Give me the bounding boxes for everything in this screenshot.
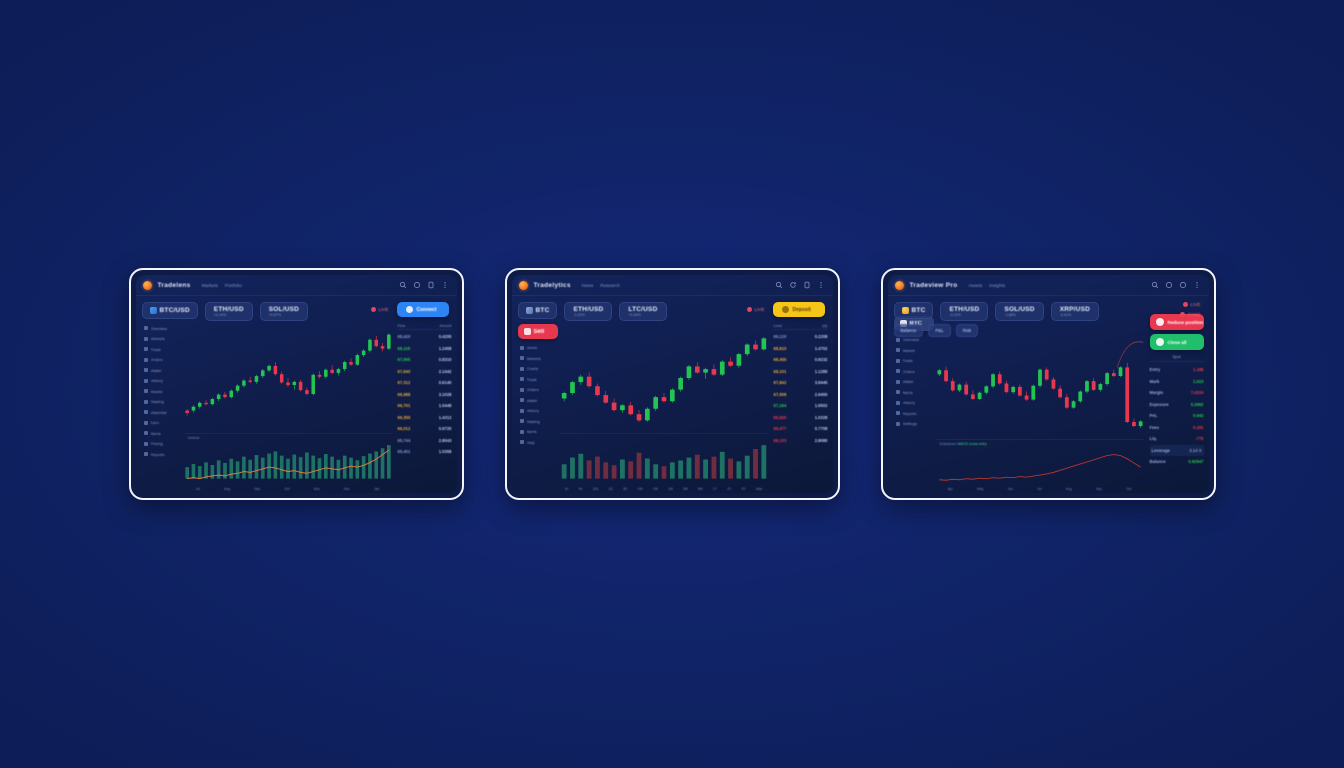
x-tick: 4h — [579, 487, 583, 491]
tab-active-pair[interactable]: BTC/USD — [142, 302, 198, 319]
sidebar-item[interactable]: History — [518, 407, 558, 415]
table-row[interactable]: Entry1.188 — [1150, 364, 1204, 376]
row-label: Exposure — [1150, 402, 1169, 407]
search-icon[interactable] — [1151, 281, 1159, 289]
volume-plot — [184, 434, 392, 490]
row-label: 68,118 — [398, 346, 411, 351]
table-row[interactable]: 66,1332.8080 — [774, 435, 828, 447]
row-value: 0.7708 — [815, 426, 828, 431]
sidebar-item[interactable]: Home — [518, 344, 558, 352]
table-row[interactable]: 68,4550.9232 — [774, 354, 828, 366]
row-label: 67,164 — [774, 403, 787, 408]
sidebar-item[interactable]: Alerts — [518, 428, 558, 436]
sidebar-item[interactable]: Alerts — [142, 429, 182, 437]
sync-label: SYNC — [1188, 312, 1201, 317]
table-row[interactable]: 66,7011.0448 — [398, 400, 452, 412]
table-row[interactable]: Fees0.181 — [1150, 422, 1204, 434]
table-row[interactable]: PnL0.942 — [1150, 410, 1204, 422]
sidebar-item-label: Alerts — [903, 390, 913, 395]
tab-pair[interactable]: SOL/USD +0.87% — [260, 302, 308, 321]
sidebar-item[interactable]: Overview — [142, 324, 182, 332]
sidebar-item[interactable]: Charts — [518, 365, 558, 373]
x-tick: May — [977, 487, 983, 491]
nav-icon — [144, 431, 148, 435]
sidebar-item-label: Trade — [151, 347, 161, 352]
sidebar-item[interactable]: Staking — [142, 398, 182, 406]
row-value: 3.1028 — [439, 392, 452, 397]
sidebar-item-label: Orders — [903, 369, 915, 374]
tab-label: BTC/USD — [160, 307, 190, 314]
sidebar-item[interactable]: Trade — [518, 375, 558, 383]
table-row[interactable]: 67,9050.8310 — [398, 354, 452, 366]
row-value: 2.9450 — [815, 392, 828, 397]
sidebar-item[interactable]: Pricing — [142, 440, 182, 448]
nav-icon — [520, 388, 524, 392]
deposit-icon — [782, 306, 789, 313]
indicator-plot — [936, 440, 1144, 490]
sidebar-item-label: Home — [527, 345, 538, 350]
order-book-rows: 69,1200.220868,8101.470268,4550.923268,1… — [774, 331, 828, 446]
column-header-price: Price — [398, 324, 406, 328]
row-label: 66,988 — [398, 392, 411, 397]
order-book: Price Amount 68,4200.420568,1181.245867,… — [395, 321, 457, 493]
sidebar-item[interactable]: Markets — [518, 354, 558, 362]
row-label: 67,842 — [774, 380, 787, 385]
nav-icon — [144, 337, 148, 341]
row-label: 67,508 — [774, 392, 787, 397]
dashboard-card-bearish: Tradeview Pro Assets Insights BTC — [881, 268, 1216, 500]
row-label: 66,820 — [774, 415, 787, 420]
tab-active-pair[interactable]: BTC — [894, 302, 934, 319]
sidebar-item-label: Assets — [151, 389, 163, 394]
volume-label: Volume — [188, 436, 200, 440]
sidebar-item-label: History — [151, 378, 163, 383]
row-value: 3.9445 — [815, 380, 828, 385]
connect-button[interactable]: Connect — [397, 302, 449, 317]
tab-label: ETH/USD — [949, 306, 979, 313]
status-dot-icon — [1183, 302, 1188, 307]
nav-icon — [144, 326, 148, 330]
nav-icon — [144, 358, 148, 362]
nav-icon — [144, 421, 148, 425]
more-menu-icon[interactable] — [817, 281, 825, 289]
sidebar-item-label: Settings — [903, 421, 917, 426]
nav-icon — [896, 401, 900, 405]
sidebar-item-label: Reports — [903, 411, 917, 416]
nav-icon — [896, 369, 900, 373]
order-book-rows: 68,4200.420568,1181.245867,9050.831067,6… — [398, 331, 452, 458]
panel-body: BTC Overview Market Trade Orders Wallet … — [888, 337, 1209, 493]
deposit-button[interactable]: Deposit — [773, 302, 825, 317]
x-tick: 2Y — [727, 487, 731, 491]
x-tick: Oct — [1126, 487, 1131, 491]
tab-label: BTC — [536, 307, 550, 314]
price-chart[interactable] — [560, 323, 768, 431]
tab-sublabel: -1.88% — [1004, 313, 1015, 317]
sidebar-item[interactable]: Assets — [142, 387, 182, 395]
sidebar-item[interactable]: Settings — [894, 420, 934, 428]
status-label: LIVE — [379, 307, 389, 312]
x-tick: 1W — [638, 487, 643, 491]
x-tick: Jun — [1008, 487, 1013, 491]
x-tick: Jul — [1037, 487, 1041, 491]
row-label: Margin — [1150, 390, 1164, 395]
candlestick-plot — [936, 339, 1144, 437]
sidebar-item-label: Overview — [903, 337, 920, 342]
table-row[interactable]: 66,3551.4312 — [398, 412, 452, 424]
sidebar: BTC Overview Market Trade Orders Wallet … — [888, 313, 934, 493]
sidebar-item[interactable]: Wallet — [894, 378, 934, 386]
wallet-icon[interactable] — [803, 281, 811, 289]
brand-logo-icon — [519, 281, 528, 290]
sidebar-item[interactable]: Reports — [894, 409, 934, 417]
header-icon-group — [1151, 281, 1201, 289]
header-nav-link[interactable]: Research — [600, 283, 620, 288]
row-label: 66,133 — [774, 438, 787, 443]
x-tick: Nov — [314, 487, 320, 491]
panel-stage: Tradelens Markets Portfolio BTC/USD — [0, 0, 1344, 768]
search-icon[interactable] — [399, 281, 407, 289]
status-label: LIVE — [755, 307, 765, 312]
x-tick: 2W — [653, 487, 658, 491]
table-row[interactable]: Margin7.4324 — [1150, 387, 1204, 399]
row-value: 1.023 — [1193, 379, 1203, 384]
sidebar: Overview Markets Trade Orders Wallet His… — [136, 321, 182, 493]
table-row[interactable]: Exposure0.2962 — [1150, 399, 1204, 411]
wallet-icon[interactable] — [427, 281, 435, 289]
toolbar-right: LIVE SYNC — [1180, 302, 1201, 317]
row-value: 1.2458 — [439, 346, 452, 351]
nav-icon — [144, 410, 148, 414]
column-header-level: Level — [774, 324, 782, 328]
x-tick: 3M — [683, 487, 688, 491]
header-nav-link[interactable]: News — [582, 283, 594, 288]
row-value: 2.8043 — [439, 438, 452, 443]
row-value: 0.2962 — [1191, 402, 1204, 407]
volume-plot — [560, 434, 768, 490]
sidebar-item[interactable]: History — [894, 399, 934, 407]
table-row[interactable]: Leverage3.14 X — [1150, 445, 1204, 457]
tab-pair[interactable]: XRP/USD -0.91% — [1051, 302, 1099, 321]
sidebar-item-label: History — [903, 400, 915, 405]
tab-pair[interactable]: ETH/USD +2.14% — [205, 302, 253, 321]
more-menu-icon[interactable] — [1193, 281, 1201, 289]
panel-body: Overview Markets Trade Orders Wallet His… — [136, 321, 457, 493]
nav-icon — [520, 409, 524, 413]
table-row[interactable]: 67,3120.6140 — [398, 377, 452, 389]
pair-icon — [150, 307, 157, 314]
deposit-label: Deposit — [793, 307, 811, 313]
table-row[interactable]: 67,1641.6502 — [774, 400, 828, 412]
nav-icon — [896, 348, 900, 352]
nav-icon — [520, 346, 524, 350]
sell-icon — [524, 328, 531, 335]
nav-icon — [520, 398, 524, 402]
x-tick: Sep — [254, 487, 260, 491]
price-chart[interactable] — [184, 323, 392, 431]
sidebar-item-label: Wallet — [151, 368, 162, 373]
app-header: Tradelens Markets Portfolio — [136, 275, 457, 296]
nav-icon — [144, 442, 148, 446]
row-value: 1.6502 — [815, 403, 828, 408]
row-label: 65,401 — [398, 449, 411, 454]
header-nav-link[interactable]: Assets — [968, 283, 982, 288]
toolbar-right: LIVE Deposit — [747, 302, 825, 317]
tab-label: SOL/USD — [269, 306, 299, 313]
sidebar-item[interactable]: Orders — [518, 386, 558, 394]
sidebar-item[interactable]: Earn — [142, 419, 182, 427]
row-label: Fees — [1150, 425, 1160, 430]
x-axis: 1h 4h 12h 1D 3D 1W 2W 1M 3M 6M 1Y 2Y — [560, 487, 768, 491]
tab-sublabel: -1.02% — [573, 313, 584, 317]
tab-label: ETH/USD — [573, 306, 603, 313]
sidebar-item-label: History — [527, 408, 539, 413]
x-tick: Jul — [196, 487, 200, 491]
row-value: 1.0358 — [439, 449, 452, 454]
price-chart[interactable] — [936, 339, 1144, 437]
x-tick: Aug — [1066, 487, 1072, 491]
header-nav: Assets Insights — [968, 283, 1005, 288]
nav-icon — [896, 338, 900, 342]
row-value: .770 — [1195, 436, 1203, 441]
x-tick: Aug — [224, 487, 230, 491]
wallet-icon[interactable] — [1179, 281, 1187, 289]
x-axis: Apr May Jun Jul Aug Sep Oct — [936, 487, 1144, 491]
sidebar-item[interactable]: Market — [894, 346, 934, 354]
header-nav: News Research — [582, 283, 620, 288]
status-dot-icon — [371, 307, 376, 312]
row-value: 1.1285 — [815, 369, 828, 374]
volume-chart[interactable]: Volume Jul Aug Sep Oct Nov Dec Jan — [184, 433, 392, 490]
x-axis: Jul Aug Sep Oct Nov Dec Jan — [184, 487, 392, 491]
tab-sublabel: -0.91% — [1060, 313, 1071, 317]
refresh-icon[interactable] — [789, 281, 797, 289]
nav-icon — [144, 347, 148, 351]
status-label: LIVE — [1191, 302, 1201, 307]
nav-icon — [144, 400, 148, 404]
app-header: Tradeview Pro Assets Insights — [888, 275, 1209, 296]
tab-label: SOL/USD — [1004, 306, 1034, 313]
row-label: 69,120 — [774, 334, 787, 339]
nav-icon — [144, 389, 148, 393]
sidebar-item[interactable]: Orders — [142, 356, 182, 364]
sidebar-item[interactable]: Alerts — [894, 388, 934, 396]
sidebar-item[interactable]: Trade — [142, 345, 182, 353]
nav-icon — [520, 440, 524, 444]
x-tick: 5Y — [742, 487, 746, 491]
row-value: 1.4312 — [439, 415, 452, 420]
chart-area: Drawdown MACD cross entry Apr May Jun Ju… — [934, 337, 1147, 493]
tab-pair[interactable]: SOL/USD -1.88% — [995, 302, 1043, 321]
table-row[interactable]: 65,7442.8043 — [398, 435, 452, 447]
sidebar-item[interactable]: Markets — [142, 335, 182, 343]
sidebar-item-label: Markets — [527, 356, 541, 361]
toolbar-right: LIVE Connect — [371, 302, 449, 317]
row-value: 3.14 X — [1189, 448, 1201, 453]
x-tick: Apr — [948, 487, 953, 491]
filter-chip-balance[interactable]: Balance — [894, 324, 924, 337]
tab-pair[interactable]: ETH/USD -3.12% — [940, 302, 988, 321]
tab-active-pair[interactable]: BTC — [518, 302, 558, 319]
status-badge: LIVE — [747, 307, 765, 312]
tab-label: LTC/USD — [628, 306, 657, 313]
column-header-qty: Qty — [822, 324, 827, 328]
row-label: PnL — [1150, 413, 1158, 418]
header-nav-link[interactable]: Portfolio — [225, 283, 242, 288]
row-label: 68,810 — [774, 346, 787, 351]
table-row[interactable]: 68,1011.1285 — [774, 366, 828, 378]
sidebar-item-label: Alerts — [527, 429, 537, 434]
app-header: Tradelytics News Research — [512, 275, 833, 296]
notification-icon[interactable] — [1165, 281, 1173, 289]
row-value: 1.188 — [1193, 367, 1203, 372]
sidebar-item[interactable]: Wallet — [518, 396, 558, 404]
nav-icon — [520, 430, 524, 434]
toolbar: BTC ETH/USD -3.12% SOL/USD -1.88% XRP/US… — [888, 296, 1209, 321]
table-row[interactable]: 67,8423.9445 — [774, 377, 828, 389]
nav-icon — [896, 422, 900, 426]
tab-label: XRP/USD — [1060, 306, 1090, 313]
x-tick: Oct — [284, 487, 289, 491]
x-tick: Max — [756, 487, 762, 491]
row-label: Mark — [1150, 379, 1160, 384]
row-value: 0.2208 — [815, 334, 828, 339]
sidebar-item-label: Overview — [151, 326, 168, 331]
header-icon-group — [399, 281, 449, 289]
row-label: Balance — [1150, 459, 1166, 464]
nav-icon — [520, 419, 524, 423]
sidebar-item-label: Wallet — [527, 398, 538, 403]
sidebar-item-label: Pricing — [151, 441, 163, 446]
header-nav: Markets Portfolio — [202, 283, 242, 288]
volume-chart[interactable]: 1h 4h 12h 1D 3D 1W 2W 1M 3M 6M 1Y 2Y — [560, 433, 768, 490]
brand-logo-icon — [143, 281, 152, 290]
order-book: Level Qty 69,1200.220868,8101.470268,455… — [771, 321, 833, 493]
x-tick: Dec — [344, 487, 350, 491]
brand-title: Tradelytics — [534, 282, 571, 289]
row-value: 0.6140 — [439, 380, 452, 385]
nav-icon — [896, 359, 900, 363]
position-panel: Reduce position Close all Spot Entry1.18… — [1147, 311, 1209, 493]
table-row[interactable]: 67,5082.9450 — [774, 389, 828, 401]
table-row[interactable]: Mark1.023 — [1150, 376, 1204, 388]
position-panel-title: Spot — [1150, 354, 1204, 362]
x-tick: 1Y — [713, 487, 717, 491]
sidebar-item[interactable]: Orders — [894, 367, 934, 375]
table-row[interactable]: 66,9883.1028 — [398, 389, 452, 401]
row-label: 66,355 — [398, 415, 411, 420]
x-tick: Jan — [374, 487, 379, 491]
sidebar-item[interactable]: Reports — [142, 450, 182, 458]
brand-title: Tradeview Pro — [910, 282, 958, 289]
table-row[interactable]: Balance0.92947 — [1150, 456, 1204, 468]
sidebar-item[interactable]: Staking — [518, 417, 558, 425]
row-value: 7.4324 — [1191, 390, 1204, 395]
sidebar-item-label: Trade — [903, 358, 913, 363]
table-row[interactable]: 68,1181.2458 — [398, 343, 452, 355]
sidebar-item-label: Alerts — [151, 431, 161, 436]
sidebar-item-label: Help — [527, 440, 535, 445]
filter-chip-pnl[interactable]: P&L — [928, 324, 950, 337]
table-row[interactable]: 65,4011.0358 — [398, 446, 452, 458]
table-row[interactable]: 67,6402.1442 — [398, 366, 452, 378]
x-tick: 6M — [698, 487, 703, 491]
table-row[interactable]: 69,1200.2208 — [774, 331, 828, 343]
sidebar-item-label: Orders — [151, 357, 163, 362]
row-label: 67,312 — [398, 380, 411, 385]
sidebar-item[interactable]: Wallet — [142, 366, 182, 374]
order-book-header: Price Amount — [398, 324, 452, 330]
sidebar-item[interactable]: Trade — [894, 357, 934, 365]
tab-sublabel: +0.44% — [628, 313, 640, 317]
x-tick: 12h — [593, 487, 599, 491]
sidebar-item[interactable]: Help — [518, 438, 558, 446]
connect-icon — [406, 306, 413, 313]
column-header-amount: Amount — [439, 324, 451, 328]
chart-area: Volume Jul Aug Sep Oct Nov Dec Jan — [182, 321, 395, 493]
sell-label: Sell — [534, 329, 545, 335]
row-label: 68,101 — [774, 369, 787, 374]
header-icon-group — [775, 281, 825, 289]
toolbar: BTC ETH/USD -1.02% LTC/USD +0.44% LIVE — [512, 296, 833, 321]
sidebar-item-label: Reports — [151, 452, 165, 457]
tab-sublabel: -3.12% — [949, 313, 960, 317]
notification-icon[interactable] — [413, 281, 421, 289]
sidebar-item-label: Earn — [151, 420, 159, 425]
more-menu-icon[interactable] — [441, 281, 449, 289]
table-row[interactable]: 66,8201.0328 — [774, 412, 828, 424]
row-label: 67,640 — [398, 369, 411, 374]
nav-icon — [896, 380, 900, 384]
search-icon[interactable] — [775, 281, 783, 289]
row-label: 66,477 — [774, 426, 787, 431]
x-tick: 1D — [608, 487, 612, 491]
sidebar-item-label: Markets — [151, 336, 165, 341]
header-nav-link[interactable]: Markets — [202, 283, 218, 288]
sidebar-item[interactable]: History — [142, 377, 182, 385]
sell-button[interactable]: Sell — [518, 324, 558, 339]
row-label: 68,420 — [398, 334, 411, 339]
brand-logo-icon — [895, 281, 904, 290]
tab-pair[interactable]: ETH/USD -1.02% — [564, 302, 612, 321]
sidebar-item[interactable]: Watchlist — [142, 408, 182, 416]
row-label: 65,744 — [398, 438, 411, 443]
x-tick: 1M — [668, 487, 673, 491]
table-row[interactable]: Liq..770 — [1150, 433, 1204, 445]
row-value: 0.181 — [1193, 425, 1203, 430]
sidebar-item-label: Orders — [527, 387, 539, 392]
row-value: 0.8310 — [439, 357, 452, 362]
nav-icon — [896, 411, 900, 415]
close-all-label: Close all — [1168, 340, 1187, 345]
tab-pair[interactable]: LTC/USD +0.44% — [619, 302, 666, 321]
sync-badge: SYNC — [1180, 312, 1201, 317]
table-row[interactable]: 68,8101.4702 — [774, 343, 828, 355]
filter-chip-risk[interactable]: Risk — [956, 324, 979, 337]
nav-icon — [144, 368, 148, 372]
indicator-chart[interactable]: Drawdown MACD cross entry Apr May Jun Ju… — [936, 439, 1144, 490]
status-badge: LIVE — [1183, 302, 1201, 307]
table-row[interactable]: 66,0120.9720 — [398, 423, 452, 435]
candlestick-plot — [184, 323, 392, 431]
close-icon — [1156, 338, 1164, 346]
header-nav-link[interactable]: Insights — [989, 283, 1005, 288]
row-label: 67,905 — [398, 357, 411, 362]
dashboard-card-volatile: Tradelytics News Research BTC — [505, 268, 840, 500]
row-value: 0.9232 — [815, 357, 828, 362]
table-row[interactable]: 68,4200.4205 — [398, 331, 452, 343]
table-row[interactable]: 66,4770.7708 — [774, 423, 828, 435]
